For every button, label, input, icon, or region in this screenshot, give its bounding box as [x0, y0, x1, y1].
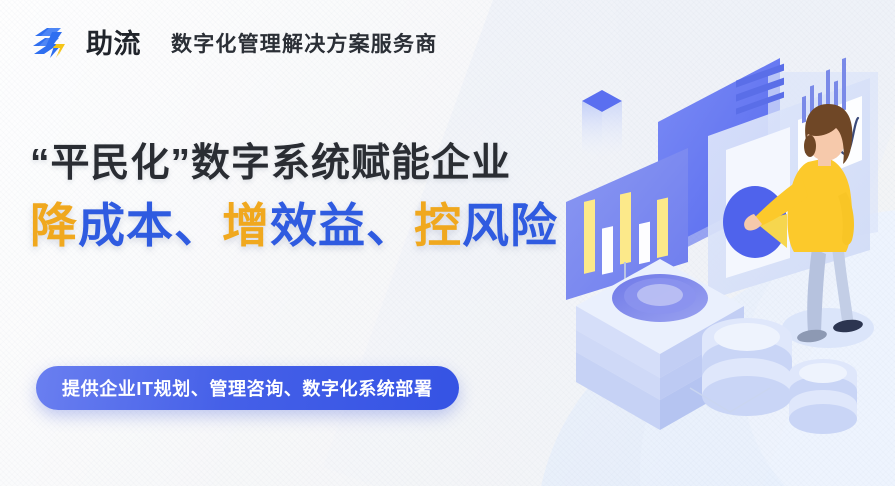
illustration: [540, 0, 895, 486]
headline-segment-5: 风险: [462, 199, 558, 252]
headline-segment-0: 降: [30, 199, 78, 252]
floating-cube-icon: [582, 90, 622, 160]
services-cta-pill[interactable]: 提供企业IT规划、管理咨询、数字化系统部署: [36, 366, 459, 410]
brand-tagline: 数字化管理解决方案服务商: [171, 34, 437, 55]
headline-segment-1: 成本、: [78, 199, 222, 252]
headline-segment-4: 控: [414, 199, 462, 252]
site-header: 助流 数字化管理解决方案服务商: [32, 24, 437, 64]
hero-banner: 助流 数字化管理解决方案服务商 “平民化”数字系统赋能企业 降成本、增效益、控风…: [0, 0, 895, 486]
hero-copy: “平民化”数字系统赋能企业 降成本、增效益、控风险: [30, 140, 558, 256]
headline-segment-2: 增: [222, 199, 270, 252]
headline-line-2: 降成本、增效益、控风险: [30, 197, 558, 256]
headline-line-1: “平民化”数字系统赋能企业: [30, 140, 558, 189]
headline-segment-3: 效益、: [270, 199, 414, 252]
zhuliu-bolt-logo-icon[interactable]: [32, 24, 72, 64]
brand-name: 助流: [86, 31, 141, 58]
